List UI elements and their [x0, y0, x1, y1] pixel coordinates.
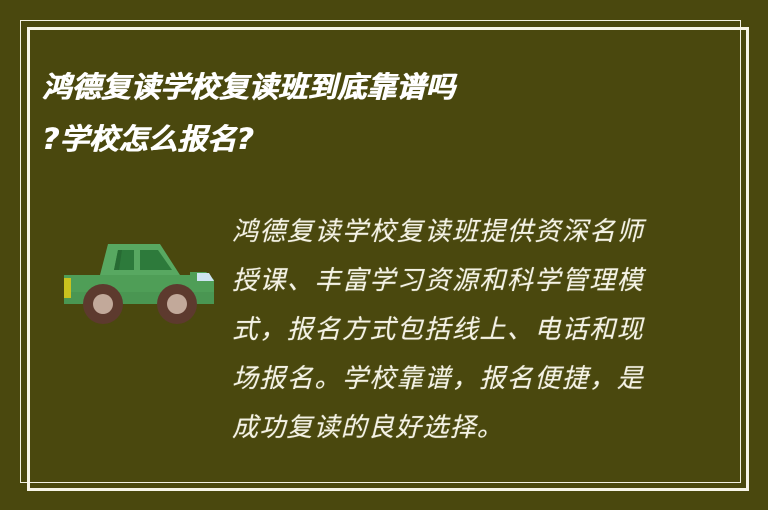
page-title: 鸿德复读学校复读班到底靠谱吗 ?学校怎么报名? [42, 62, 642, 165]
truck-front-hub [167, 294, 187, 314]
taillight-icon [64, 278, 71, 298]
truck-rear-hub [93, 294, 113, 314]
pickup-truck-icon [64, 232, 214, 328]
truck-illustration [64, 232, 214, 328]
page-title-line-1: 鸿德复读学校复读班到底靠谱吗 [42, 62, 642, 114]
page-title-line-2: ?学校怎么报名? [42, 114, 642, 166]
poster-canvas: 鸿德复读学校复读班到底靠谱吗 ?学校怎么报名? [0, 0, 768, 510]
headlight-icon [197, 273, 214, 281]
body-paragraph: 鸿德复读学校复读班提供资深名师授课、丰富学习资源和科学管理模式，报名方式包括线上… [232, 208, 644, 453]
